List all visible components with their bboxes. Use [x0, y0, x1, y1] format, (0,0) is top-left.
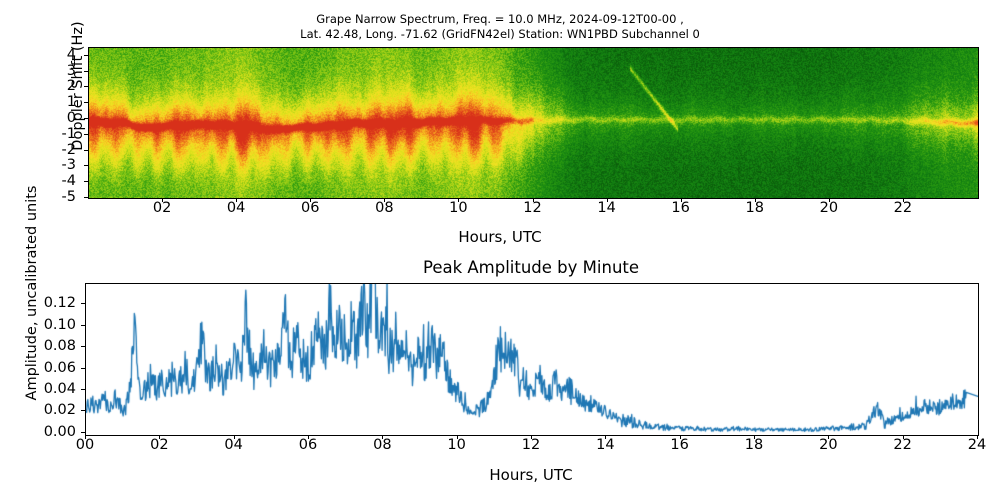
spectrogram-x-tick-mark [681, 198, 682, 202]
spectrogram-x-tick: 04 [216, 200, 256, 216]
amplitude-x-tick: 06 [288, 437, 328, 453]
amplitude-y-tick: 0.06 [32, 361, 76, 375]
spectrogram-x-tick: 16 [661, 200, 701, 216]
spectrogram-y-tick: -2 [40, 143, 76, 157]
spectrogram-y-tick-mark [84, 71, 88, 72]
spectrogram-y-tick: -5 [40, 190, 76, 204]
spectrogram-x-tick: 02 [142, 200, 182, 216]
spectrogram-x-tick-mark [533, 198, 534, 202]
spectrogram-y-tick-mark [84, 197, 88, 198]
spectrogram-y-tick: 0 [40, 111, 76, 125]
figure-title-line-1: Grape Narrow Spectrum, Freq. = 10.0 MHz,… [0, 12, 1000, 26]
amplitude-x-tick-mark [754, 435, 755, 439]
spectrogram-y-tick-mark [84, 118, 88, 119]
amplitude-x-tick-mark [85, 435, 86, 439]
amplitude-x-tick: 14 [585, 437, 625, 453]
amplitude-x-tick-mark [903, 435, 904, 439]
amplitude-x-tick: 00 [65, 437, 105, 453]
amplitude-y-tick: 0.08 [32, 339, 76, 353]
amplitude-y-tick: 0.02 [32, 403, 76, 417]
spectrogram-x-tick: 06 [290, 200, 330, 216]
amplitude-y-tick-mark [81, 325, 85, 326]
amplitude-x-axis-label: Hours, UTC [85, 466, 977, 484]
amplitude-x-tick: 18 [734, 437, 774, 453]
figure-canvas: Grape Narrow Spectrum, Freq. = 10.0 MHz,… [0, 0, 1000, 500]
spectrogram-y-tick-mark [84, 165, 88, 166]
spectrogram-x-tick: 22 [883, 200, 923, 216]
spectrogram-image [89, 48, 978, 198]
spectrogram-y-tick-mark [84, 86, 88, 87]
spectrogram-x-tick-mark [162, 198, 163, 202]
amplitude-y-tick: 0.04 [32, 382, 76, 396]
spectrogram-x-tick-mark [384, 198, 385, 202]
amplitude-x-tick-mark [828, 435, 829, 439]
amplitude-x-tick: 20 [808, 437, 848, 453]
spectrogram-x-tick: 18 [735, 200, 775, 216]
amplitude-x-tick: 24 [957, 437, 997, 453]
amplitude-y-tick-mark [81, 368, 85, 369]
amplitude-y-tick: 0.12 [32, 296, 76, 310]
amplitude-x-tick: 04 [214, 437, 254, 453]
spectrogram-y-tick: -4 [40, 174, 76, 188]
spectrogram-x-tick: 20 [809, 200, 849, 216]
spectrogram-y-tick: -1 [40, 127, 76, 141]
spectrogram-x-tick-mark [755, 198, 756, 202]
spectrogram-x-tick-mark [607, 198, 608, 202]
spectrogram-x-tick-mark [829, 198, 830, 202]
amplitude-y-tick-mark [81, 410, 85, 411]
spectrogram-y-tick: 4 [40, 48, 76, 62]
spectrogram-x-tick-mark [236, 198, 237, 202]
amplitude-x-tick-mark [159, 435, 160, 439]
amplitude-x-tick: 02 [139, 437, 179, 453]
spectrogram-y-tick: 3 [40, 64, 76, 78]
spectrogram-x-tick-mark [903, 198, 904, 202]
spectrogram-x-axis-label: Hours, UTC [0, 228, 1000, 246]
amplitude-line-series [86, 284, 978, 435]
amplitude-x-tick: 12 [511, 437, 551, 453]
spectrogram-y-tick-mark [84, 55, 88, 56]
amplitude-x-tick-mark [457, 435, 458, 439]
amplitude-y-tick-mark [81, 389, 85, 390]
spectrogram-y-tick: 1 [40, 95, 76, 109]
spectrogram-y-tick-mark [84, 134, 88, 135]
amplitude-y-tick-mark [81, 346, 85, 347]
amplitude-x-tick-mark [977, 435, 978, 439]
amplitude-x-tick: 08 [362, 437, 402, 453]
amplitude-y-tick: 0.10 [32, 318, 76, 332]
spectrogram-y-tick-mark [84, 181, 88, 182]
amplitude-x-tick-mark [234, 435, 235, 439]
amplitude-y-tick-mark [81, 303, 85, 304]
spectrogram-y-tick: -3 [40, 158, 76, 172]
amplitude-x-tick: 22 [883, 437, 923, 453]
amplitude-x-tick: 16 [660, 437, 700, 453]
amplitude-x-tick: 10 [437, 437, 477, 453]
spectrogram-x-tick: 10 [438, 200, 478, 216]
spectrogram-x-tick: 08 [364, 200, 404, 216]
spectrogram-plot-area [88, 47, 979, 199]
spectrogram-y-tick: 2 [40, 79, 76, 93]
spectrogram-y-tick-mark [84, 102, 88, 103]
amplitude-x-tick-mark [680, 435, 681, 439]
spectrogram-x-tick: 12 [513, 200, 553, 216]
amplitude-x-tick-mark [382, 435, 383, 439]
amplitude-x-tick-mark [531, 435, 532, 439]
amplitude-plot-title: Peak Amplitude by Minute [85, 258, 977, 277]
spectrogram-x-tick-mark [310, 198, 311, 202]
spectrogram-x-tick: 14 [587, 200, 627, 216]
amplitude-y-tick-mark [81, 432, 85, 433]
figure-title-line-2: Lat. 42.48, Long. -71.62 (GridFN42el) St… [0, 27, 1000, 41]
amplitude-plot-area [85, 283, 979, 436]
spectrogram-x-tick-mark [458, 198, 459, 202]
spectrogram-y-tick-mark [84, 150, 88, 151]
amplitude-x-tick-mark [308, 435, 309, 439]
amplitude-x-tick-mark [605, 435, 606, 439]
